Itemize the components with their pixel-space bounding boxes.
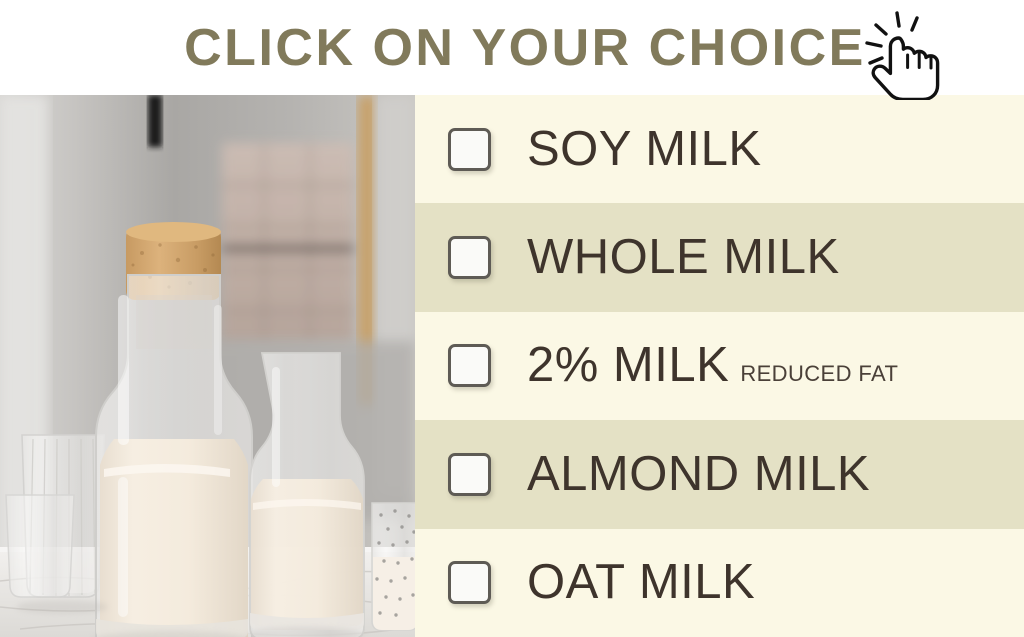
option-label-soy-milk: SOY MILK [527,125,762,174]
option-row-2-percent-milk[interactable]: 2% MILK REDUCED FAT [415,312,1024,420]
option-row-oat-milk[interactable]: OAT MILK [415,529,1024,637]
option-row-soy-milk[interactable]: SOY MILK [415,95,1024,203]
checkbox-whole-milk[interactable] [448,236,491,279]
checkbox-2-percent-milk[interactable] [448,344,491,387]
option-label-whole-milk: WHOLE MILK [527,233,840,282]
option-main-text: OAT MILK [527,558,755,607]
page-title: CLICK ON YOUR CHOICE [184,22,866,74]
option-main-text: ALMOND MILK [527,450,870,499]
option-label-2-percent-milk: 2% MILK REDUCED FAT [527,341,898,390]
poll-card: CLICK ON YOUR CHOICE [0,0,1024,637]
option-row-whole-milk[interactable]: WHOLE MILK [415,203,1024,311]
checkbox-soy-milk[interactable] [448,128,491,171]
option-main-text: 2% MILK [527,341,729,390]
option-label-oat-milk: OAT MILK [527,558,755,607]
option-label-almond-milk: ALMOND MILK [527,450,870,499]
header-bar: CLICK ON YOUR CHOICE [0,0,1024,95]
milk-carafe-photo [0,95,415,637]
option-sub-text: REDUCED FAT [740,363,898,385]
checkbox-oat-milk[interactable] [448,561,491,604]
option-row-almond-milk[interactable]: ALMOND MILK [415,420,1024,528]
option-main-text: SOY MILK [527,125,762,174]
option-main-text: WHOLE MILK [527,233,840,282]
options-list: SOY MILK WHOLE MILK 2% MILK REDUCED FAT … [415,95,1024,637]
checkbox-almond-milk[interactable] [448,453,491,496]
